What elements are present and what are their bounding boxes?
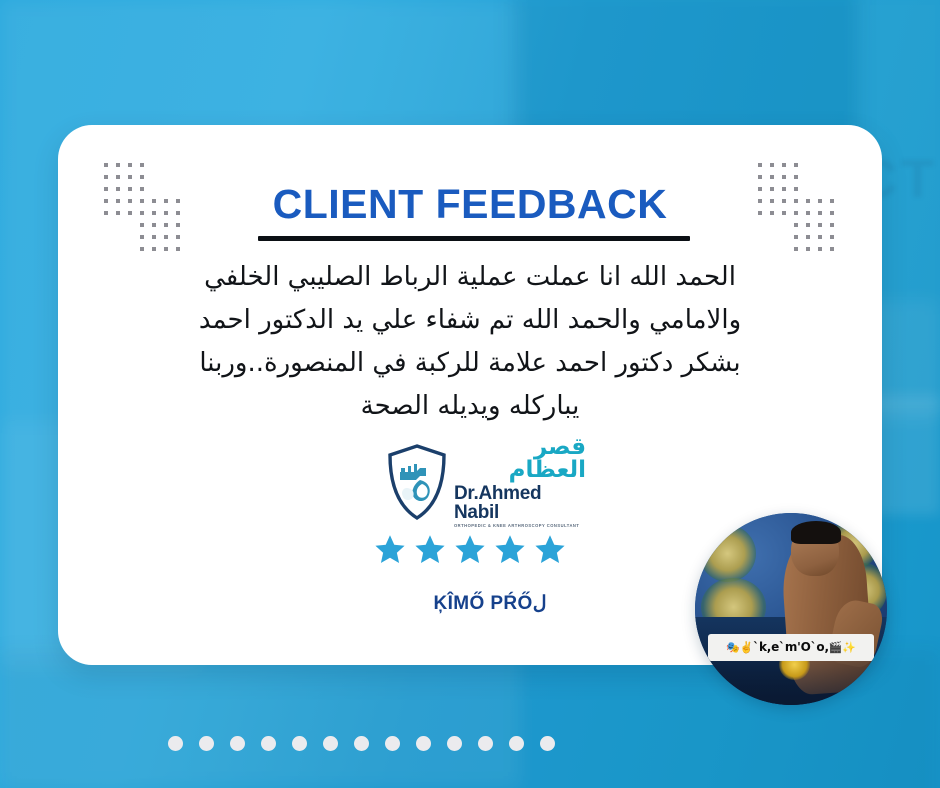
avatar-caption: 🎭✌️ `k,e`m'O`o, 🎬✨ xyxy=(708,634,873,661)
title-underline xyxy=(258,236,690,241)
dot xyxy=(140,175,144,179)
dot xyxy=(794,175,798,179)
soft-dot xyxy=(416,736,431,751)
dot xyxy=(830,235,834,239)
star-icon xyxy=(533,533,567,566)
dot xyxy=(164,235,168,239)
clinic-logo: قصر العظام Dr.Ahmed Nabil ORTHOPEDIC & K… xyxy=(386,444,586,520)
dot xyxy=(830,247,834,251)
avatar-hair xyxy=(791,521,841,544)
star-icon xyxy=(373,533,407,566)
logo-doctor-name: Dr.Ahmed Nabil xyxy=(454,484,586,522)
dot xyxy=(818,247,822,251)
dot xyxy=(104,163,108,167)
avatar-caption-text: `k,e`m'O`o, xyxy=(753,640,829,654)
screenshot-root: CT CLIENT FEEDBACK الحمد الله انا عملت ع… xyxy=(0,0,940,788)
dot xyxy=(818,235,822,239)
star-icon xyxy=(493,533,527,566)
dot xyxy=(152,235,156,239)
dot xyxy=(140,247,144,251)
star-icon xyxy=(413,533,447,566)
soft-dot xyxy=(292,736,307,751)
soft-dot xyxy=(261,736,276,751)
dot xyxy=(128,163,132,167)
dot xyxy=(782,163,786,167)
dot xyxy=(794,163,798,167)
soft-dot xyxy=(354,736,369,751)
dot xyxy=(794,235,798,239)
dot xyxy=(794,247,798,251)
soft-dot xyxy=(199,736,214,751)
review-line: والامامي والحمد الله تم شفاء علي يد الدك… xyxy=(150,299,790,342)
review-line: يباركله ويديله الصحة xyxy=(150,385,790,428)
dot xyxy=(128,175,132,179)
avatar-caption-emoji-right: 🎬✨ xyxy=(829,641,856,654)
dot xyxy=(758,175,762,179)
star-icon xyxy=(453,533,487,566)
dot xyxy=(164,247,168,251)
dot xyxy=(140,163,144,167)
dot xyxy=(116,163,120,167)
dot xyxy=(758,163,762,167)
soft-dot xyxy=(385,736,400,751)
reviewer-name: ĶÎMŐ PŔŐل xyxy=(360,592,620,615)
soft-dot xyxy=(540,736,555,751)
avatar-decor-1 xyxy=(699,525,757,583)
review-line: بشكر دكتور احمد علامة للركبة في المنصورة… xyxy=(150,342,790,385)
logo-text-block: قصر العظام Dr.Ahmed Nabil ORTHOPEDIC & K… xyxy=(454,436,586,528)
soft-dot xyxy=(323,736,338,751)
soft-dot xyxy=(509,736,524,751)
soft-dot-row xyxy=(168,731,568,757)
soft-dot xyxy=(478,736,493,751)
soft-dot xyxy=(168,736,183,751)
dot xyxy=(104,175,108,179)
dot xyxy=(806,235,810,239)
dot xyxy=(770,175,774,179)
dot xyxy=(152,247,156,251)
avatar-caption-emoji-left: 🎭✌️ xyxy=(726,641,753,654)
review-line: الحمد الله انا عملت عملية الرباط الصليبي… xyxy=(150,256,790,299)
avatar: 🎭✌️ `k,e`m'O`o, 🎬✨ xyxy=(695,513,887,705)
review-text: الحمد الله انا عملت عملية الرباط الصليبي… xyxy=(150,256,790,428)
dot xyxy=(806,247,810,251)
page-title: CLIENT FEEDBACK xyxy=(0,181,940,228)
dot xyxy=(176,235,180,239)
dot xyxy=(116,175,120,179)
soft-dot xyxy=(230,736,245,751)
dot xyxy=(176,247,180,251)
dot xyxy=(770,163,774,167)
dot xyxy=(782,175,786,179)
soft-dot xyxy=(447,736,462,751)
dot xyxy=(140,235,144,239)
shield-bone-icon xyxy=(386,444,448,520)
logo-tagline: ORTHOPEDIC & KNEE ARTHROSCOPY CONSULTANT xyxy=(454,524,586,528)
logo-arabic-name: قصر العظام xyxy=(454,436,586,482)
